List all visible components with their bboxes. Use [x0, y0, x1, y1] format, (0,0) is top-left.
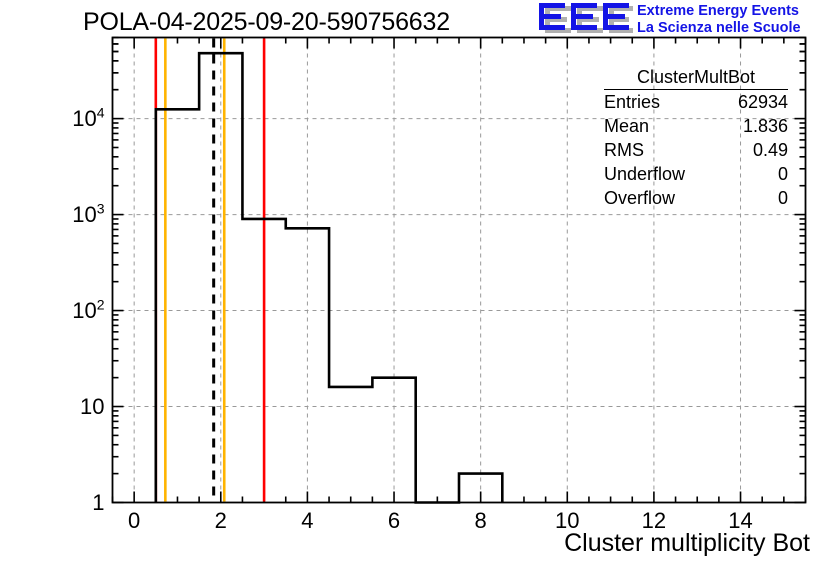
stats-key: Underflow: [604, 163, 685, 186]
y-axis-label: 102: [72, 300, 104, 322]
stats-row: Entries62934: [604, 90, 788, 114]
stats-key: RMS: [604, 139, 644, 162]
stats-row: Underflow0: [604, 162, 788, 186]
x-axis-title: Cluster multiplicity Bot: [564, 529, 810, 557]
y-axis-label: 104: [72, 108, 104, 130]
stats-row: Mean1.836: [604, 114, 788, 138]
root-canvas: POLA-04-2025-09-20-590756632: [0, 0, 836, 572]
stats-value: 0: [778, 187, 788, 210]
stats-key: Overflow: [604, 187, 675, 210]
stats-rows: Entries62934Mean1.836RMS0.49Underflow0Ov…: [604, 90, 788, 210]
x-axis-label: 4: [267, 510, 347, 532]
x-axis-label: 0: [94, 510, 174, 532]
stats-key: Mean: [604, 115, 649, 138]
x-axis-label: 2: [181, 510, 261, 532]
stats-box: ClusterMultBot Entries62934Mean1.836RMS0…: [604, 66, 788, 210]
stats-row: Overflow0: [604, 186, 788, 210]
stats-value: 62934: [738, 91, 788, 114]
stats-title: ClusterMultBot: [604, 66, 788, 90]
stats-value: 1.836: [743, 115, 788, 138]
stats-row: RMS0.49: [604, 138, 788, 162]
stats-key: Entries: [604, 91, 660, 114]
x-axis-label: 6: [354, 510, 434, 532]
y-axis-label: 103: [72, 204, 104, 226]
histogram-outline: [156, 53, 503, 502]
stats-value: 0: [778, 163, 788, 186]
x-axis-label: 8: [441, 510, 521, 532]
marker-lines: [156, 39, 264, 502]
stats-value: 0.49: [753, 139, 788, 162]
y-axis-label: 10: [80, 396, 104, 418]
